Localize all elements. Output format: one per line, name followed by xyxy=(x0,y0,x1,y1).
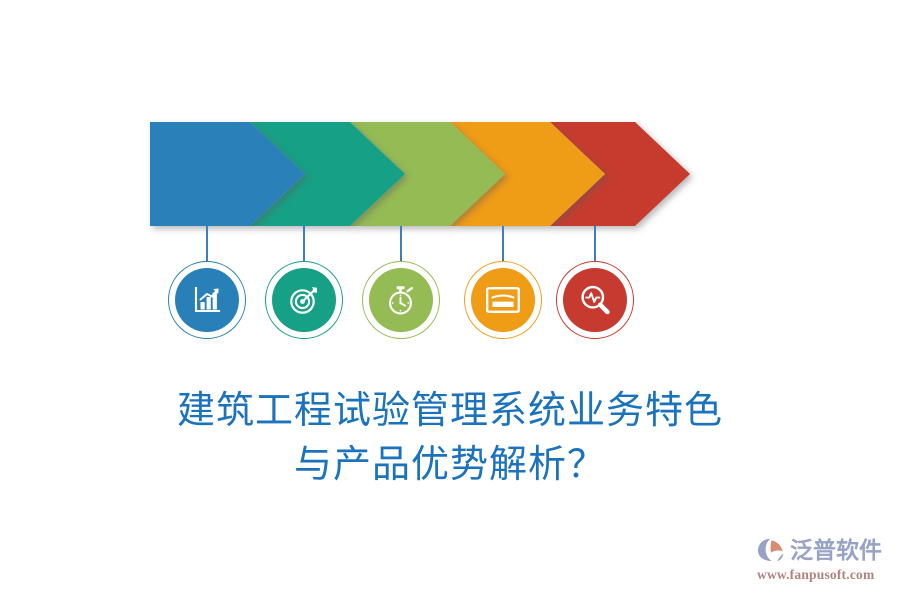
connector-line-4 xyxy=(502,226,504,262)
slide-canvas: 建筑工程试验管理系统业务特色 与产品优势解析？ 泛普软件 www.fanpuso… xyxy=(0,0,900,600)
connector-line-1 xyxy=(206,226,208,262)
medallion-target-dart[interactable] xyxy=(265,261,343,339)
medallion-magnifier-pulse[interactable] xyxy=(556,261,634,339)
page-title: 建筑工程试验管理系统业务特色 与产品优势解析？ xyxy=(0,385,900,493)
medallion-id-card-badge[interactable] xyxy=(464,261,542,339)
medallion-bar-chart-growth[interactable] xyxy=(168,261,246,339)
connector-line-2 xyxy=(303,226,305,262)
connector-line-5 xyxy=(594,226,596,262)
stopwatch-icon xyxy=(369,268,433,332)
connector-line-3 xyxy=(400,226,402,262)
target-dart-icon xyxy=(272,268,336,332)
chevron-process-ribbon xyxy=(150,122,690,226)
watermark-logo: 泛普软件 www.fanpusoft.com xyxy=(756,534,892,586)
fanpu-logo-mark xyxy=(756,537,786,563)
medallion-stopwatch[interactable] xyxy=(362,261,440,339)
id-card-badge-icon xyxy=(471,268,535,332)
watermark-row: 泛普软件 xyxy=(756,534,882,566)
watermark-url: www.fanpusoft.com xyxy=(757,567,874,583)
magnifier-pulse-icon xyxy=(563,268,627,332)
bar-chart-growth-icon xyxy=(175,268,239,332)
watermark-brand: 泛普软件 xyxy=(790,539,882,562)
